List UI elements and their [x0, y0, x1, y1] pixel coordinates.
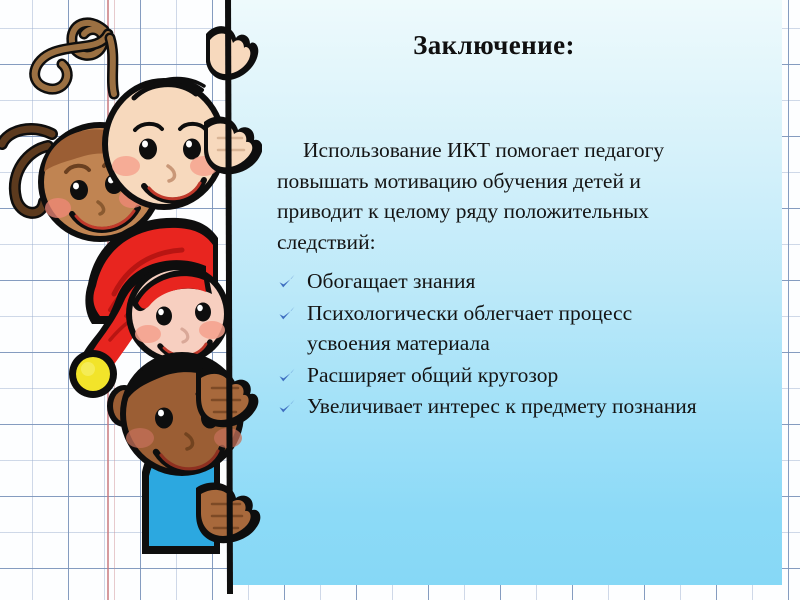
check-icon — [277, 395, 297, 415]
check-icon — [277, 270, 297, 290]
intro-paragraph: Использование ИКТ помогает педагогу повы… — [277, 135, 709, 257]
list-item: Обогащает знания — [277, 266, 709, 297]
content-panel: Заключение: Использование ИКТ помогает п… — [231, 0, 782, 585]
list-item: Психологически облегчает процесс усвоени… — [277, 298, 709, 359]
list-item-label: Увеличивает интерес к предмету познания — [307, 394, 697, 418]
slide-canvas: Заключение: Использование ИКТ помогает п… — [0, 0, 800, 600]
list-item-label: Обогащает знания — [307, 269, 475, 293]
list-item-label: Расширяет общий кругозор — [307, 363, 558, 387]
grid-margin-line — [107, 0, 109, 600]
panel-body: Использование ИКТ помогает педагогу повы… — [277, 135, 709, 423]
check-icon — [277, 302, 297, 322]
benefit-list: Обогащает знания Психологически облегчае… — [277, 266, 709, 422]
list-item-label: Психологически облегчает процесс усвоени… — [307, 301, 632, 356]
page-title: Заключение: — [231, 30, 757, 61]
list-item: Расширяет общий кругозор — [277, 360, 709, 391]
list-item: Увеличивает интерес к предмету познания — [277, 391, 709, 422]
grid-margin-line-secondary — [114, 0, 115, 600]
check-icon — [277, 364, 297, 384]
